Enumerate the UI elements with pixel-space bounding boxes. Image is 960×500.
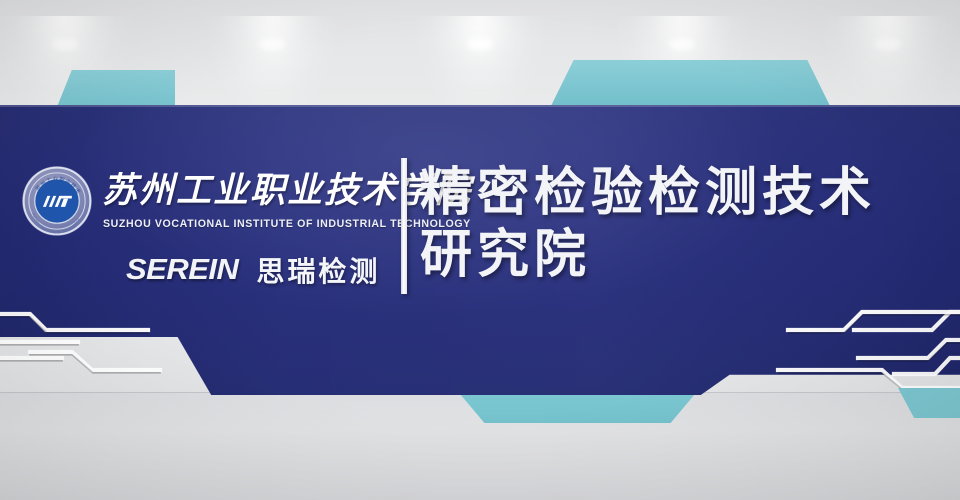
page-title-line-1: 精密检验检测技术: [420, 162, 950, 224]
brand-latin-text: SEREIN: [126, 253, 238, 286]
school-name-en: SUZHOU VOCATIONAL INSTITUTE OF INDUSTRIA…: [103, 218, 471, 230]
suzhou-institute-crest-icon: 苏州工业职业技术学院 SUZHOU INSTITUTE OF TECHNOLOG…: [20, 164, 94, 238]
board-top-highlight: [0, 105, 960, 107]
school-name-cn: 苏州工业职业技术学院: [102, 166, 400, 218]
brand-cn-text: 思瑞检测: [256, 250, 380, 290]
page-title: 精密检验检测技术 研究院: [420, 162, 950, 286]
partner-brand-row: SEREIN 思瑞检测: [126, 250, 380, 290]
institution-logo-block: 苏州工业职业技术学院 SUZHOU INSTITUTE OF TECHNOLOG…: [14, 158, 392, 294]
signage-scene: 苏州工业职业技术学院 SUZHOU INSTITUTE OF TECHNOLOG…: [0, 0, 960, 500]
school-name-cn-text: 苏州工业职业技术学院: [102, 166, 400, 216]
page-title-line-2: 研究院: [420, 224, 950, 286]
vertical-divider: [401, 158, 407, 294]
